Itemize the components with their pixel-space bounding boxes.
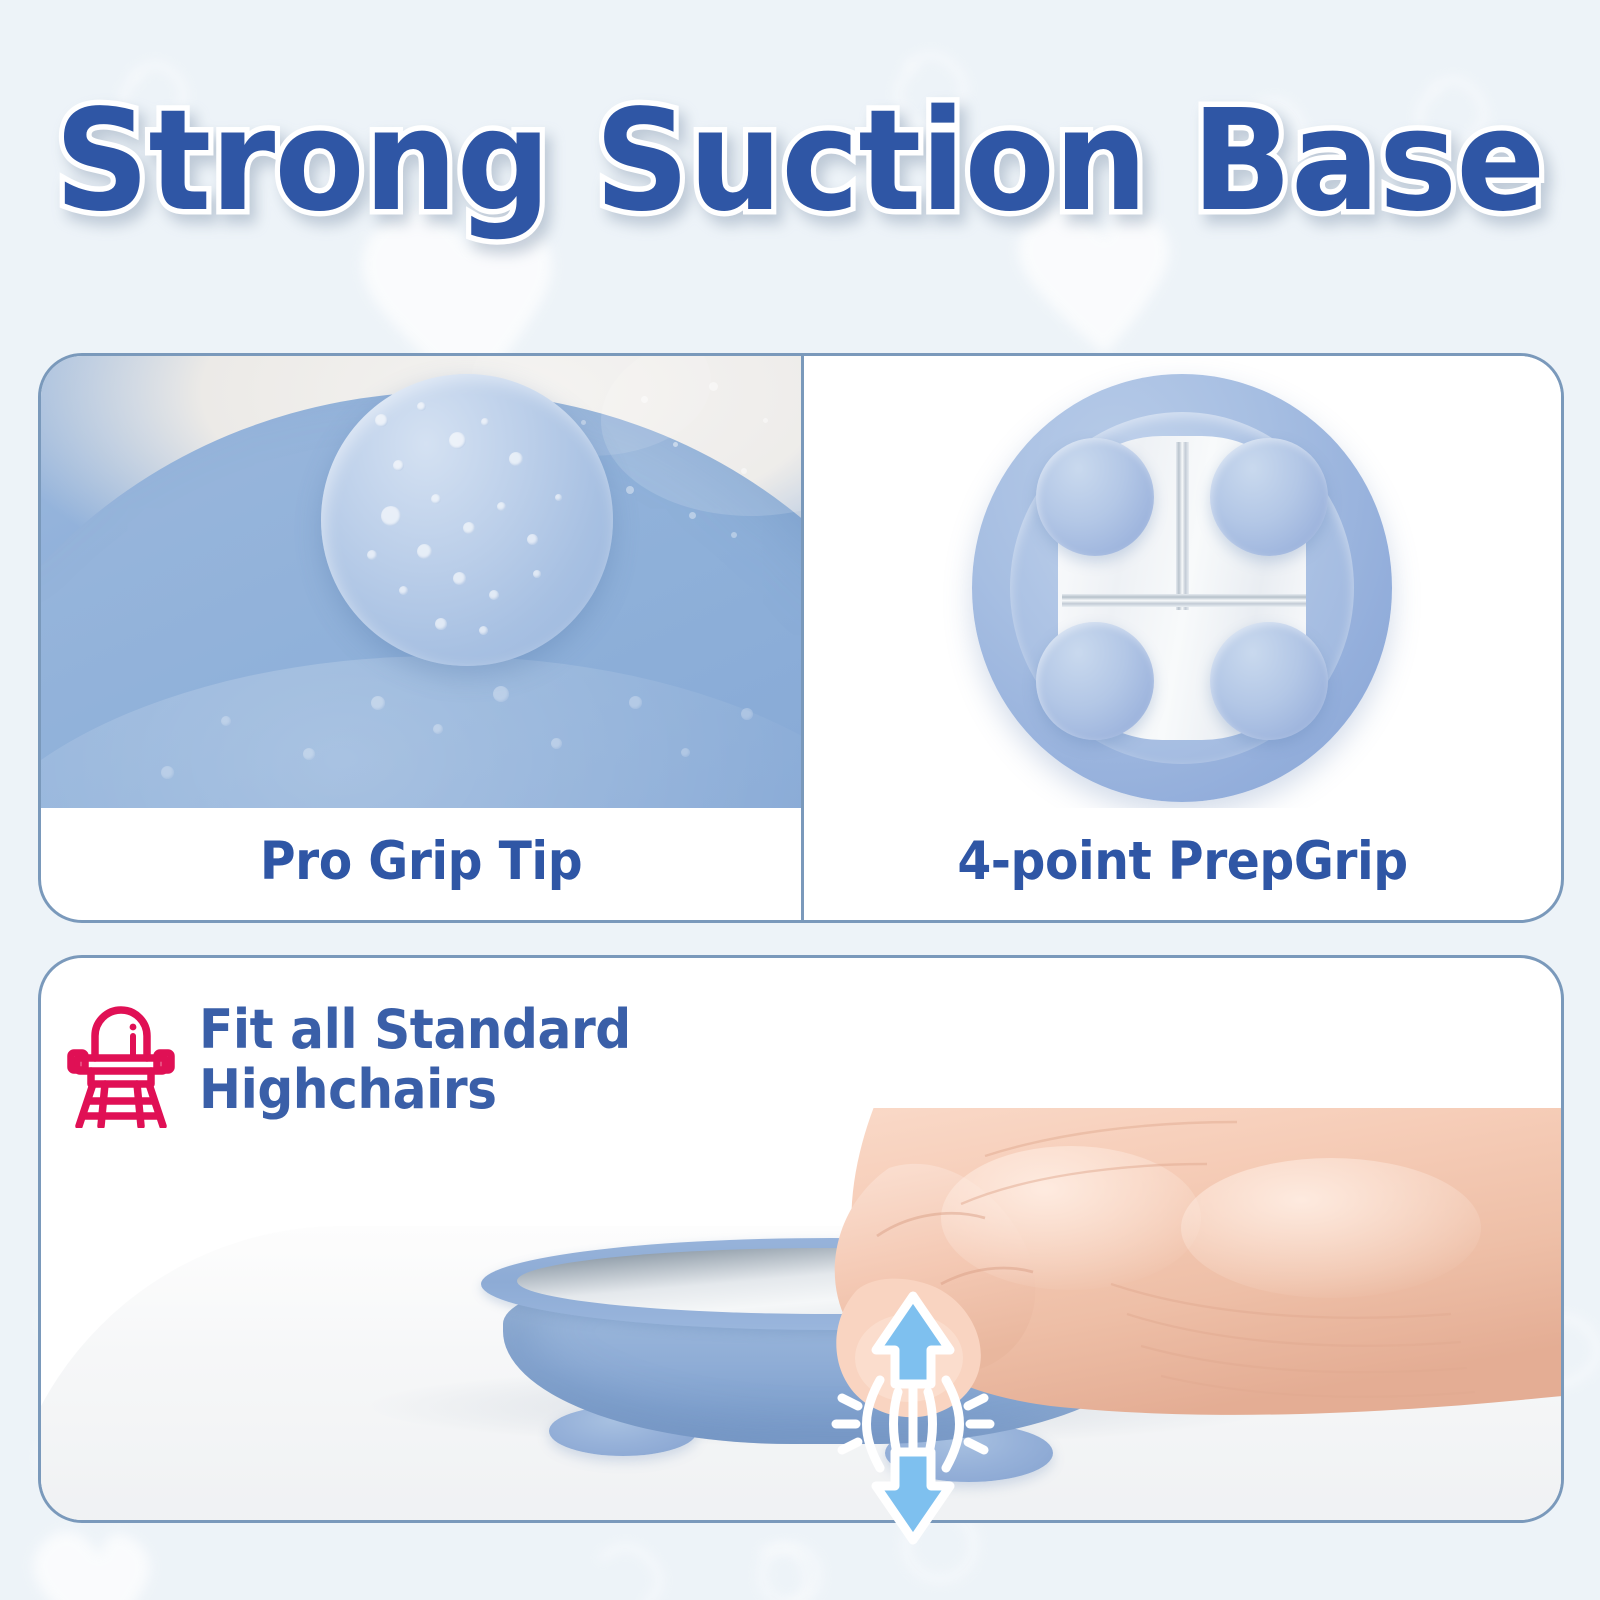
pro-grip-photo [41,356,801,808]
suction-pad-top-right [1210,438,1328,556]
prepgrip-photo [804,356,1561,808]
title-container: Strong Suction Base [0,72,1600,252]
highchair-heading: Fit all Standard Highchairs [199,1000,631,1121]
hand-graphic [641,1108,1561,1520]
steel-vertical-ridge [1176,442,1189,610]
pro-grip-label: Pro Grip Tip [71,802,770,920]
suction-pad-bottom-right [1210,622,1328,740]
feature-card-prepgrip: 4-point PrepGrip [801,353,1564,923]
highchair-icon [67,1006,175,1128]
suction-pad-bottom-left [1036,622,1154,740]
suction-tip-pad [321,374,613,666]
steel-horizontal-ridge [1062,594,1306,607]
prepgrip-label: 4-point PrepGrip [834,802,1530,920]
highchair-feature-block: Fit all Standard Highchairs [67,1000,663,1128]
page-title: Strong Suction Base [55,92,1545,232]
bowl-base-disc [972,374,1392,802]
feature-card-highchair: Fit all Standard Highchairs [38,955,1564,1523]
feature-card-pro-grip: Pro Grip Tip [38,353,804,923]
suction-pad-top-left [1036,438,1154,556]
